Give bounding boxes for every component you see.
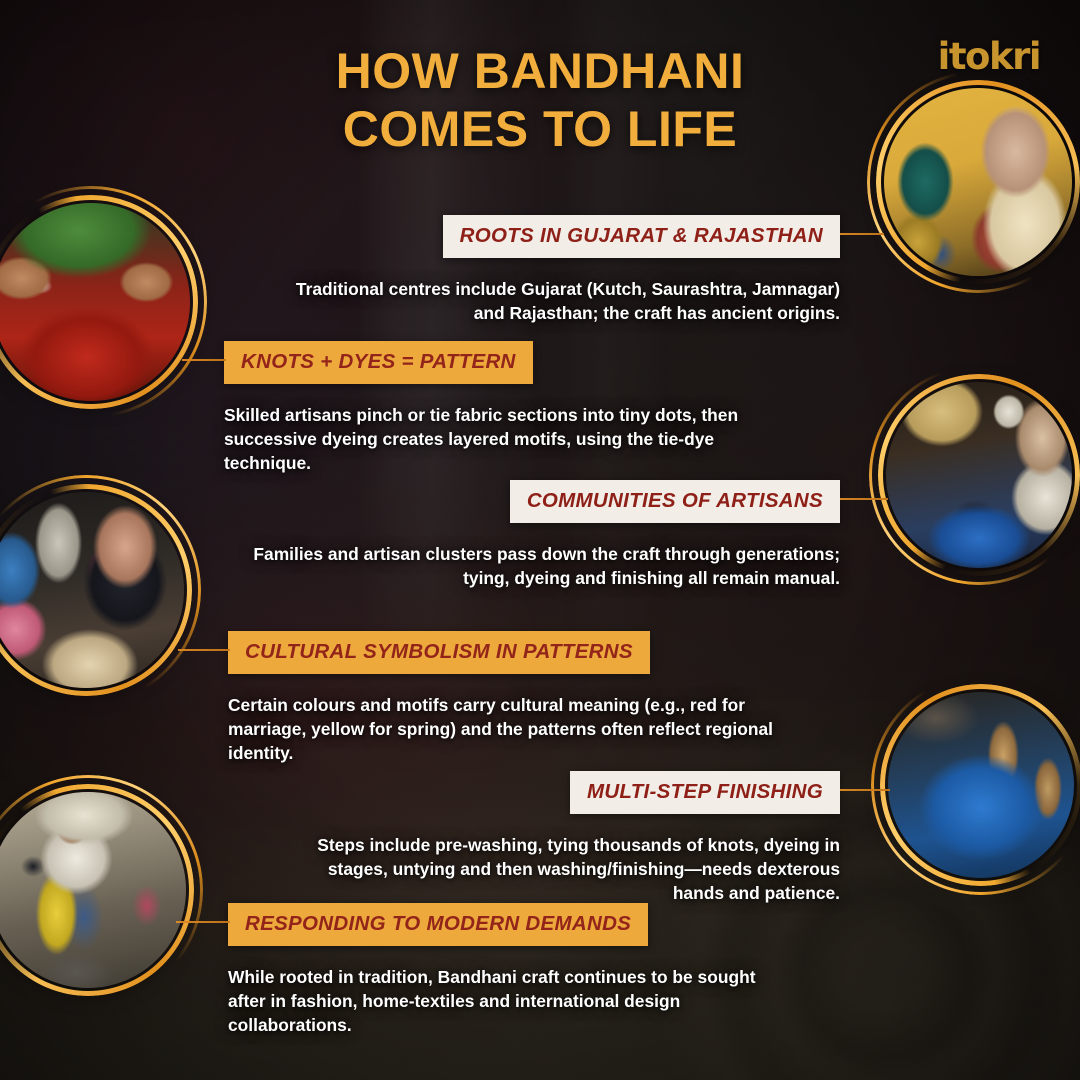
section-heading-band: KNOTS + DYES = PATTERN [224, 341, 533, 384]
connector-line-1 [840, 233, 884, 235]
photo-scene [886, 382, 1072, 568]
section-body: Traditional centres include Gujarat (Kut… [270, 278, 840, 326]
section-roots-in-gujarat-rajasthan: ROOTS IN GUJARAT & RAJASTHAN Traditional… [270, 215, 840, 326]
connector-line-5 [840, 789, 890, 791]
photo-dyer-lifting-yellow-fabric [0, 792, 186, 988]
photo-scene [884, 88, 1072, 276]
photo-hands-tying-red-fabric [0, 203, 190, 401]
photo-two-women-tying-knots [884, 88, 1072, 276]
section-body: Certain colours and motifs carry cultura… [228, 694, 788, 766]
section-heading-band: RESPONDING TO MODERN DEMANDS [228, 903, 648, 946]
section-communities-of-artisans: COMMUNITIES OF ARTISANS Families and art… [240, 480, 840, 591]
section-heading-band: CULTURAL SYMBOLISM IN PATTERNS [228, 631, 650, 674]
connector-line-3 [840, 498, 888, 500]
section-knots-dyes-pattern: KNOTS + DYES = PATTERN Skilled artisans … [224, 341, 784, 476]
photo-scene [0, 792, 186, 988]
section-body: Skilled artisans pinch or tie fabric sec… [224, 404, 784, 476]
section-heading-band: ROOTS IN GUJARAT & RAJASTHAN [443, 215, 840, 258]
section-body: Families and artisan clusters pass down … [240, 543, 840, 591]
photo-fabric-dipped-in-blue-dye-vat [888, 692, 1074, 878]
section-heading-band: COMMUNITIES OF ARTISANS [510, 480, 840, 523]
section-multi-step-finishing: MULTI-STEP FINISHING Steps include pre-w… [300, 771, 840, 906]
infographic-poster: itokri HOW BANDHANI COMES TO LIFE ROOTS … [0, 0, 1080, 1080]
photo-artisan-dyeing-in-blue-tub [886, 382, 1072, 568]
section-responding-to-modern-demands: RESPONDING TO MODERN DEMANDS While roote… [228, 903, 788, 1038]
section-body: While rooted in tradition, Bandhani craf… [228, 966, 788, 1038]
section-heading-band: MULTI-STEP FINISHING [570, 771, 840, 814]
photo-woman-tying-cream-fabric [0, 492, 184, 688]
connector-line-6 [176, 921, 230, 923]
section-cultural-symbolism-in-patterns: CULTURAL SYMBOLISM IN PATTERNS Certain c… [228, 631, 788, 766]
photo-scene [888, 692, 1074, 878]
connector-line-2 [182, 359, 226, 361]
photo-scene [0, 203, 190, 401]
connector-line-4 [178, 649, 230, 651]
photo-scene [0, 492, 184, 688]
section-body: Steps include pre-washing, tying thousan… [300, 834, 840, 906]
